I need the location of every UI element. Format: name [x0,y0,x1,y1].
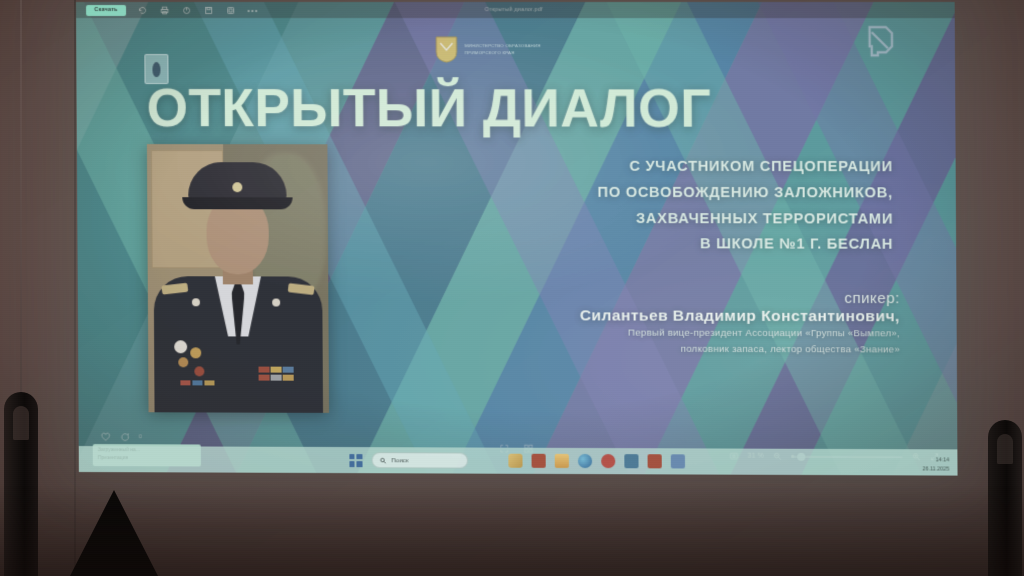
speaker-portrait-photo [147,144,329,413]
save-icon[interactable] [203,5,214,16]
taskbar-app-yandex-assistant[interactable] [508,454,522,468]
search-icon [379,457,386,464]
room-scene: МИНИСТЕРСТВО ОБРАЗОВАНИЯ ПРИМОРСКОГО КРА… [0,0,1024,576]
heart-icon[interactable] [101,432,111,442]
ministry-logo-text: МИНИСТЕРСТВО ОБРАЗОВАНИЯ ПРИМОРСКОГО КРА… [465,43,552,56]
reaction-count: 0 [139,434,142,440]
rotate-icon[interactable] [181,5,192,16]
comment-icon[interactable] [120,432,130,442]
fullscreen-icon[interactable] [225,5,236,16]
taskbar-app-explorer[interactable] [554,454,568,468]
taskbar-app-powerpoint[interactable] [531,454,545,468]
speaker-desc-line: Первый вице-президент Ассоциации «Группы… [425,325,900,342]
clock-time: 14:14 [922,457,949,466]
projection-area: МИНИСТЕРСТВО ОБРАЗОВАНИЯ ПРИМОРСКОГО КРА… [76,2,958,476]
taskbar-app-store[interactable] [624,454,638,468]
clock-date: 26.11.2025 [922,465,949,474]
more-options-button[interactable]: ••• [247,6,258,15]
coat-of-arms-icon [435,36,457,63]
slide-title: ОТКРЫТЫЙ ДИАЛОГ [147,78,944,140]
subtitle-line: С УЧАСТНИКОМ СПЕЦОПЕРАЦИИ [408,154,893,181]
search-input[interactable]: Поиск [371,452,468,468]
speaker-stand-left [4,392,38,576]
windows-taskbar[interactable]: Поиск 14:14 26.11.2025 [79,446,958,476]
print-icon[interactable] [159,5,170,16]
subtitle-line: ПО ОСВОБОЖДЕНИЮ ЗАЛОЖНИКОВ, [408,180,893,207]
viewer-top-toolbar: Скачать [76,2,955,18]
document-title: Открытый диалог.pdf [485,7,543,13]
reaction-row[interactable]: 0 [101,432,142,442]
slide-subtitle: С УЧАСТНИКОМ СПЕЦОПЕРАЦИИ ПО ОСВОБОЖДЕНИ… [408,154,893,259]
speaker-name: Силантьев Владимир Константинович, [580,307,900,326]
taskbar-app-yandex-browser[interactable] [601,454,615,468]
znanie-logo-icon [865,24,896,58]
triangle-fixture [70,490,158,576]
speaker-description: Первый вице-президент Ассоциации «Группы… [425,325,900,358]
taskbar-app-word[interactable] [647,454,661,468]
taskbar-clock[interactable]: 14:14 26.11.2025 [922,457,949,474]
subtitle-line: В ШКОЛЕ №1 Г. БЕСЛАН [408,232,893,259]
download-button[interactable]: Скачать [86,5,126,16]
undo-icon[interactable] [137,5,148,16]
speaker-stand-right [988,420,1022,576]
taskbar-app-photos[interactable] [670,454,684,468]
search-placeholder: Поиск [391,457,408,464]
presentation-slide: МИНИСТЕРСТВО ОБРАЗОВАНИЯ ПРИМОРСКОГО КРА… [76,2,958,476]
subtitle-line: ЗАХВАЧЕННЫХ ТЕРРОРИСТАМИ [408,206,893,233]
ministry-logo: МИНИСТЕРСТВО ОБРАЗОВАНИЯ ПРИМОРСКОГО КРА… [435,36,551,63]
speaker-label: спикер: [844,290,899,307]
start-icon[interactable] [349,454,362,467]
speaker-desc-line: полковник запаса, лектор общества «Знани… [425,341,900,358]
taskbar-app-edge[interactable] [577,454,591,468]
